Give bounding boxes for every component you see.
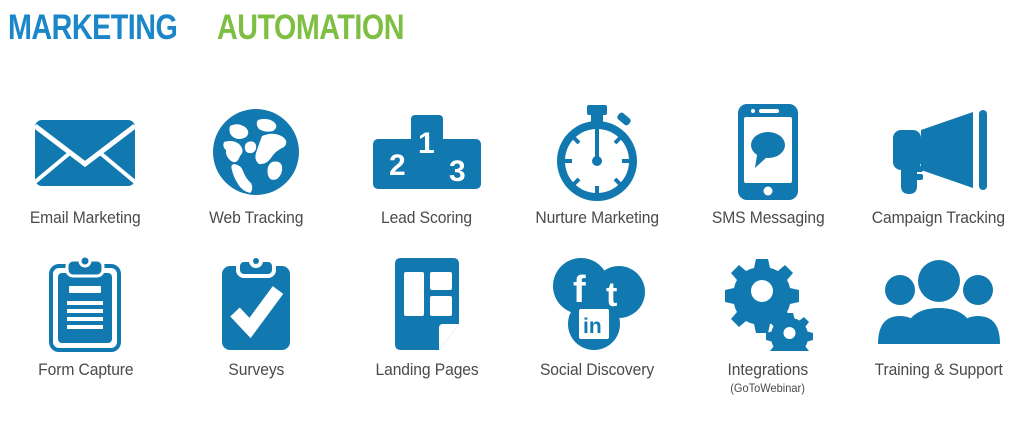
- social-circles-icon: f t in: [548, 252, 646, 356]
- twitter-glyph: t: [606, 276, 617, 314]
- podium-place-1: 1: [418, 127, 435, 160]
- feature-item-form-capture[interactable]: Form Capture: [0, 252, 171, 380]
- page-title-primary: MARKETING: [8, 10, 177, 45]
- people-group-icon: [876, 252, 1002, 356]
- feature-item-integrations[interactable]: Integrations (GoToWebinar): [683, 252, 854, 395]
- podium-icon: 2 1 3: [369, 100, 485, 204]
- feature-label: Lead Scoring: [381, 208, 472, 228]
- feature-label: Integrations: [728, 360, 809, 380]
- linkedin-glyph: in: [583, 315, 602, 338]
- page-title: MARKETING AUTOMATION: [8, 4, 445, 50]
- feature-item-lead-scoring[interactable]: 2 1 3 Lead Scoring: [341, 100, 512, 228]
- feature-item-campaign-tracking[interactable]: Campaign Tracking: [853, 100, 1024, 228]
- smartphone-chat-icon: [737, 100, 799, 204]
- feature-label: SMS Messaging: [712, 208, 825, 228]
- gears-icon: [722, 252, 814, 356]
- feature-item-training-support[interactable]: Training & Support: [853, 252, 1024, 380]
- feature-item-landing-pages[interactable]: Landing Pages: [341, 252, 512, 380]
- facebook-glyph: f: [573, 269, 586, 311]
- page-layout-icon: [389, 252, 465, 356]
- feature-item-email-marketing[interactable]: Email Marketing: [0, 100, 171, 228]
- clipboard-check-icon: [220, 252, 292, 356]
- page-title-secondary: AUTOMATION: [217, 10, 404, 45]
- feature-label: Email Marketing: [30, 208, 141, 228]
- feature-item-web-tracking[interactable]: Web Tracking: [171, 100, 342, 228]
- clipboard-lines-icon: [49, 252, 121, 356]
- feature-label: Training & Support: [875, 360, 1003, 380]
- globe-icon: [210, 100, 302, 204]
- feature-item-sms-messaging[interactable]: SMS Messaging: [683, 100, 854, 228]
- envelope-icon: [33, 100, 137, 204]
- feature-grid: Email Marketing Web Tr: [0, 100, 1024, 412]
- megaphone-icon: [887, 100, 991, 204]
- feature-label: Web Tracking: [209, 208, 303, 228]
- feature-row-1: Email Marketing Web Tr: [0, 100, 1024, 252]
- feature-item-surveys[interactable]: Surveys: [171, 252, 342, 380]
- feature-label: Nurture Marketing: [536, 208, 660, 228]
- feature-label: Campaign Tracking: [872, 208, 1005, 228]
- feature-label: Form Capture: [38, 360, 133, 380]
- podium-place-3: 3: [449, 155, 466, 188]
- stopwatch-icon: [549, 100, 645, 204]
- feature-label: Surveys: [228, 360, 284, 380]
- feature-item-nurture-marketing[interactable]: Nurture Marketing: [512, 100, 683, 228]
- feature-label: Social Discovery: [540, 360, 654, 380]
- feature-item-social-discovery[interactable]: f t in Social Discovery: [512, 252, 683, 380]
- feature-sublabel: (GoToWebinar): [731, 381, 806, 395]
- feature-label: Landing Pages: [375, 360, 478, 380]
- podium-place-2: 2: [389, 149, 406, 182]
- feature-row-2: Form Capture Surveys: [0, 252, 1024, 412]
